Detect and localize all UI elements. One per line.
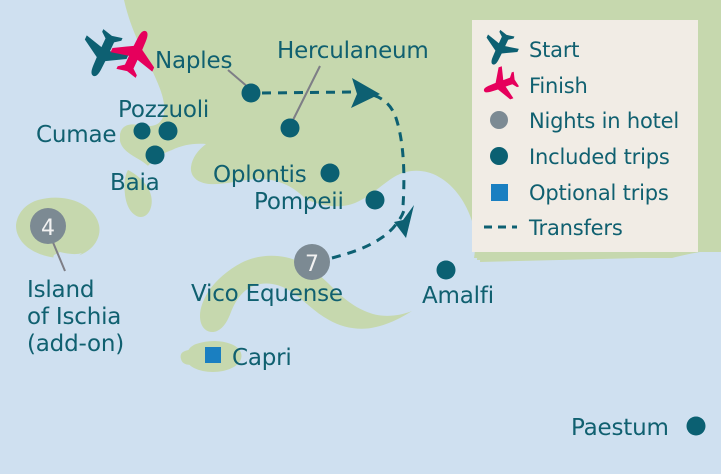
hotel-marker-ischia[interactable]: 4: [30, 208, 66, 244]
ischia-line-3: (add-on): [27, 331, 124, 357]
label-pozzuoli: Pozzuoli: [118, 97, 209, 123]
legend-label-optional: Optional trips: [529, 181, 669, 205]
ischia-line-2: of Ischia: [27, 304, 121, 330]
dot-amalfi[interactable]: [437, 261, 456, 280]
teal-circle-icon: [490, 147, 508, 165]
hotel-marker-nights: 4: [41, 216, 55, 241]
dot-baia[interactable]: [146, 146, 165, 165]
map-container: 4 7 Naples Herculaneum Pozzuoli Cumae Ba…: [0, 0, 721, 474]
ischia-line-1: Island: [27, 277, 94, 303]
legend-label-included: Included trips: [529, 145, 670, 169]
square-capri[interactable]: [205, 347, 221, 363]
dot-cumae[interactable]: [134, 123, 151, 140]
dot-pompeii[interactable]: [366, 191, 385, 210]
label-cumae: Cumae: [36, 122, 116, 148]
hotel-marker-nights: 7: [305, 252, 319, 277]
label-amalfi: Amalfi: [422, 283, 494, 309]
legend-label-transfers: Transfers: [528, 216, 623, 240]
legend-label-start: Start: [529, 38, 579, 62]
label-herculaneum: Herculaneum: [277, 38, 429, 64]
label-pompeii: Pompeii: [254, 189, 344, 215]
dot-paestum[interactable]: [687, 417, 706, 436]
label-capri: Capri: [232, 345, 292, 371]
label-paestum: Paestum: [571, 415, 669, 441]
dot-herculaneum[interactable]: [281, 119, 300, 138]
label-vico-equense: Vico Equense: [191, 281, 343, 307]
label-naples: Naples: [155, 48, 232, 74]
label-oplontis: Oplontis: [213, 162, 307, 188]
gray-circle-icon: [490, 111, 508, 129]
label-baia: Baia: [110, 170, 160, 196]
map-legend: Start Finish Nights in hotel Included tr…: [472, 20, 698, 252]
legend-label-finish: Finish: [529, 74, 588, 98]
dot-naples[interactable]: [242, 84, 261, 103]
legend-label-nights: Nights in hotel: [529, 109, 679, 133]
dot-pozzuoli[interactable]: [159, 122, 178, 141]
dot-oplontis[interactable]: [321, 164, 340, 183]
hotel-marker-sorrento[interactable]: 7: [294, 244, 330, 280]
map-canvas: 4 7 Naples Herculaneum Pozzuoli Cumae Ba…: [0, 0, 721, 474]
blue-square-icon: [491, 184, 508, 201]
